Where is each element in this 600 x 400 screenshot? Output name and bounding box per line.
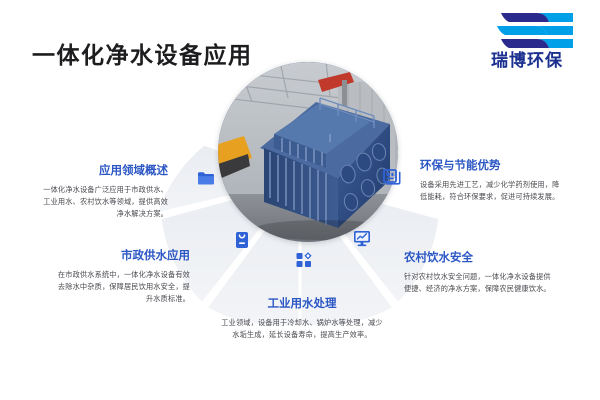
section-overview: 应用领域概述 一体化净水设备广泛应用于市政供水、工业用水、农村饮水等领域，提供高…	[36, 165, 168, 219]
monitor-chart-icon[interactable]	[352, 228, 372, 248]
section-eco: 环保与节能优势 设备采用先进工艺，减少化学药剂使用，降低能耗，符合环保要求，促进…	[420, 160, 566, 203]
ruibo-wave-mark-icon	[479, 12, 575, 50]
section-industrial-heading: 工业用水处理	[218, 298, 386, 312]
id-badge-icon[interactable]	[232, 230, 252, 250]
brand-logo-text: 瑞博环保	[468, 52, 586, 69]
section-rural: 农村饮水安全 针对农村饮水安全问题，一体化净水设备提供便捷、经济的净水方案，保障…	[404, 252, 558, 295]
section-rural-heading: 农村饮水安全	[404, 252, 558, 266]
section-industrial-body: 工业领域，设备用于冷却水、锅炉水等处理，减少水垢生成，延长设备寿命，提高生产效率…	[218, 317, 386, 341]
section-municipal-body: 在市政供水系统中，一体化净水设备有效去除水中杂质，保障居民饮用水安全，提升水质标…	[56, 269, 190, 305]
folder-icon[interactable]	[196, 168, 216, 188]
brand-logo: 瑞博环保	[468, 12, 586, 69]
infographic-slide: 一体化净水设备应用 瑞博环保	[0, 0, 600, 400]
section-rural-body: 针对农村饮水安全问题，一体化净水设备提供便捷、经济的净水方案，保障农民健康饮水。	[404, 271, 558, 295]
document-list-icon[interactable]	[381, 167, 401, 187]
section-eco-heading: 环保与节能优势	[420, 160, 566, 174]
section-industrial: 工业用水处理 工业领域，设备用于冷却水、锅炉水等处理，减少水垢生成，延长设备寿命…	[218, 298, 386, 341]
hero-photo-circle	[218, 62, 398, 242]
section-municipal-heading: 市政供水应用	[56, 250, 190, 264]
section-eco-body: 设备采用先进工艺，减少化学药剂使用，降低能耗，符合环保要求，促进可持续发展。	[420, 179, 566, 203]
grid-apps-icon[interactable]	[294, 250, 314, 270]
water-treatment-equipment-photo-icon	[218, 62, 398, 242]
section-overview-heading: 应用领域概述	[36, 165, 168, 179]
page-title: 一体化净水设备应用	[32, 36, 253, 70]
section-municipal: 市政供水应用 在市政供水系统中，一体化净水设备有效去除水中杂质，保障居民饮用水安…	[56, 250, 190, 304]
section-overview-body: 一体化净水设备广泛应用于市政供水、工业用水、农村饮水等领域，提供高效净水解决方案…	[36, 184, 168, 220]
